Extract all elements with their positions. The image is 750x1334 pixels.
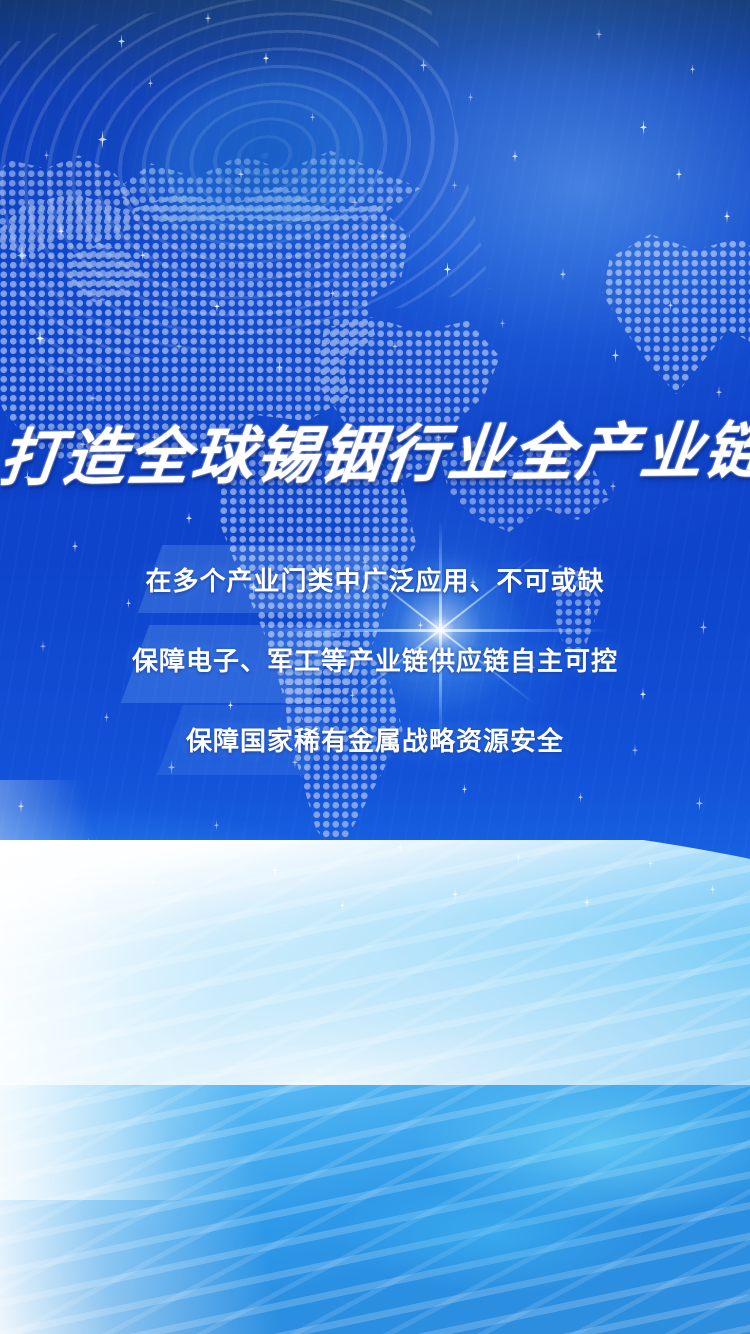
tagline-2: 保障电子、军工等产业链供应链自主可控: [0, 641, 750, 678]
tagline-3: 保障国家稀有金属战略资源安全: [0, 721, 750, 758]
tagline-1: 在多个产业门类中广泛应用、不可或缺: [0, 561, 750, 598]
page-title: 打造全球锡铟行业全产业链链主: [0, 414, 750, 498]
left-sun-rays: [0, 780, 750, 1200]
poster-canvas: 打造全球锡铟行业全产业链链主 在多个产业门类中广泛应用、不可或缺 保障电子、军工…: [0, 0, 750, 1334]
